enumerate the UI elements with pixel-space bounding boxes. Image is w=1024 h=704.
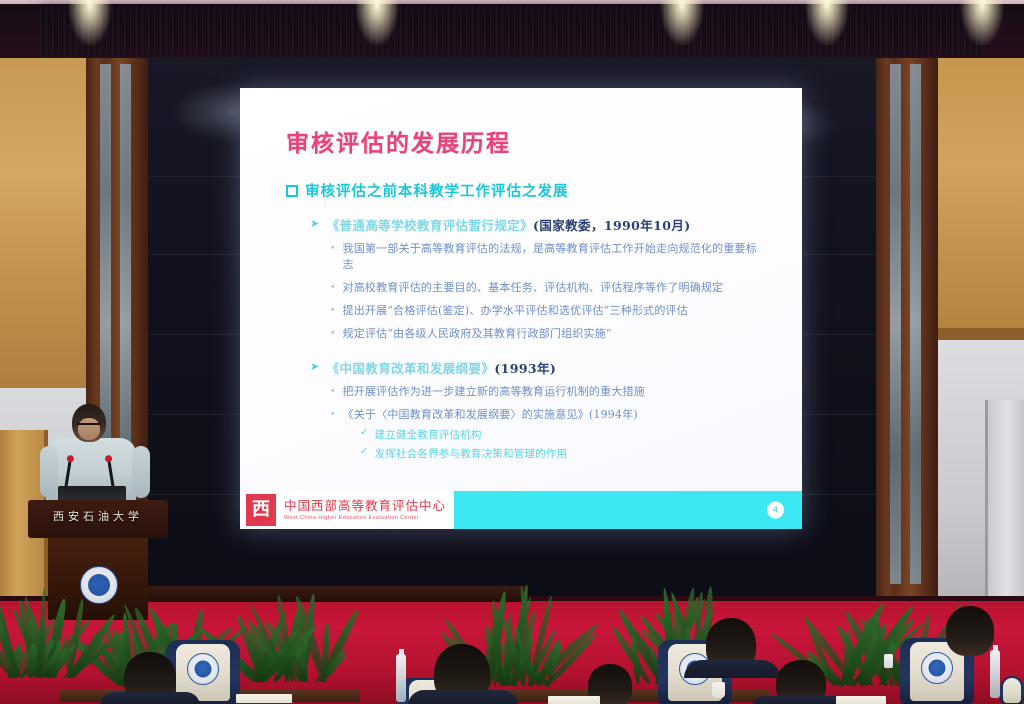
water-bottle [396, 654, 406, 702]
dot-bullet-icon: • [330, 386, 336, 399]
column-right [876, 58, 938, 618]
dot-bullet-icon: • [330, 305, 336, 318]
slide-title: 审核评估的发展历程 [286, 124, 780, 158]
audience-chair [1000, 676, 1024, 704]
slide-number-badge: 4 [767, 502, 784, 519]
bullet-text: 发挥社会各界参与教育决策和管理的作用 [375, 446, 568, 461]
audience-person-shoulders [408, 690, 518, 704]
bullet-text: 提出开展“合格评估(鉴定)、办学水平评估和选优评估”三种形式的评估 [343, 303, 688, 319]
chair-logo-icon [187, 653, 219, 685]
potted-plant [0, 590, 70, 678]
mobile-phone [884, 654, 893, 668]
slide-bullet-level3: • 我国第一部关于高等教育评估的法规，是高等教育评估工作开始走向规范化的重要标志 [330, 241, 760, 273]
slide-bullet-level3: • 把开展评估作为进一步建立新的高等教育运行机制的重大措施 [330, 384, 760, 400]
check-bullet-icon: ✓ [360, 446, 369, 457]
slide-content: 审核评估的发展历程 审核评估之前本科教学工作评估之发展 ➤ 《普通高等学校教育评… [240, 88, 802, 491]
slide-footer: 西 中国西部高等教育评估中心 West China Higher Educati… [240, 491, 802, 529]
center-logo-icon: 西 [246, 494, 276, 526]
center-name-cn: 中国西部高等教育评估中心 [284, 499, 454, 513]
arrow-bullet-icon: ➤ [310, 360, 320, 373]
paper-cup [712, 682, 725, 698]
slide-section-heading: 审核评估之前本科教学工作评估之发展 [286, 180, 780, 201]
podium-top: 西安石油大学 [28, 500, 168, 538]
slide-bullet-level2: ➤ 《普通高等学校教育评估暂行规定》(国家教委，1990年10月) [310, 215, 780, 234]
slide-bullet-level3: • 规定评估“由各级人民政府及其教育行政部门组织实施” [330, 326, 760, 342]
center-name-block: 中国西部高等教育评估中心 West China Higher Education… [276, 491, 454, 529]
wall-panel-left-wood [0, 58, 88, 388]
projection-screen: 审核评估的发展历程 审核评估之前本科教学工作评估之发展 ➤ 《普通高等学校教育评… [240, 88, 802, 529]
check-bullet-icon: ✓ [360, 427, 369, 438]
potted-plant [246, 590, 322, 682]
water-bottle [990, 650, 1000, 698]
document-sheet [836, 696, 886, 704]
audience-person-head [946, 606, 994, 656]
chair-logo-icon [921, 652, 953, 684]
dot-bullet-icon: • [330, 409, 336, 422]
slide-bullet-level3: • 对高校教育评估的主要目的、基本任务、评估机构、评估程序等作了明确规定 [330, 280, 760, 296]
dot-bullet-icon: • [330, 328, 336, 341]
dot-bullet-icon: • [330, 282, 336, 295]
dot-bullet-icon: • [330, 243, 336, 256]
bullet-text: 规定评估“由各级人民政府及其教育行政部门组织实施” [343, 326, 612, 342]
regulation-title: 《普通高等学校教育评估暂行规定》 [327, 218, 533, 233]
document-sheet [548, 696, 600, 704]
podium-with-presenter: 西安石油大学 [22, 398, 172, 620]
audience-person-shoulders [684, 660, 780, 678]
presenter-glasses [77, 423, 101, 430]
slide-bullet-level3: • 提出开展“合格评估(鉴定)、办学水平评估和选优评估”三种形式的评估 [330, 303, 760, 319]
slide-bullet-level3: • 《关于〈中国教育改革和发展纲要〉的实施意见》(1994年) [330, 407, 760, 423]
conference-hall-photo: 审核评估的发展历程 审核评估之前本科教学工作评估之发展 ➤ 《普通高等学校教育评… [0, 0, 1024, 704]
slide-bullet-level2: ➤ 《中国教育改革和发展纲要》(1993年) [310, 358, 780, 377]
center-logo-glyph: 西 [252, 501, 270, 519]
door-right [985, 400, 1024, 620]
bullet-text: 对高校教育评估的主要目的、基本任务、评估机构、评估程序等作了明确规定 [343, 280, 724, 296]
regulation-title: 《中国教育改革和发展纲要》 [327, 361, 495, 376]
document-sheet [236, 694, 292, 703]
audience-person-shoulders [100, 692, 200, 704]
presenter-arm [132, 446, 150, 498]
regulation-note: (1993年) [494, 361, 556, 376]
regulation-note: (国家教委，1990年10月) [533, 218, 691, 233]
slide-bullet-level4: ✓ 发挥社会各界参与教育决策和管理的作用 [360, 446, 780, 461]
slide-bullet-level4: ✓ 建立健全教育评估机构 [360, 427, 780, 442]
footer-accent-bar: 4 [454, 491, 802, 529]
bullet-text: 《关于〈中国教育改革和发展纲要〉的实施意见》(1994年) [343, 407, 638, 423]
podium-university-name: 西安石油大学 [28, 508, 168, 524]
bullet-text: 把开展评估作为进一步建立新的高等教育运行机制的重大措施 [343, 384, 645, 400]
bullet-text: 我国第一部关于高等教育评估的法规，是高等教育评估工作开始走向规范化的重要标志 [343, 241, 760, 273]
bullet-text: 建立健全教育评估机构 [375, 427, 482, 442]
square-bullet-icon [286, 185, 298, 197]
center-name-en: West China Higher Education Evaluation C… [284, 515, 454, 521]
arrow-bullet-icon: ➤ [310, 217, 320, 230]
section-heading-label: 审核评估之前本科教学工作评估之发展 [305, 180, 569, 201]
presenter-arm [40, 446, 58, 498]
wall-panel-right-wood [938, 58, 1024, 328]
presentation-slide: 审核评估的发展历程 审核评估之前本科教学工作评估之发展 ➤ 《普通高等学校教育评… [240, 88, 802, 529]
